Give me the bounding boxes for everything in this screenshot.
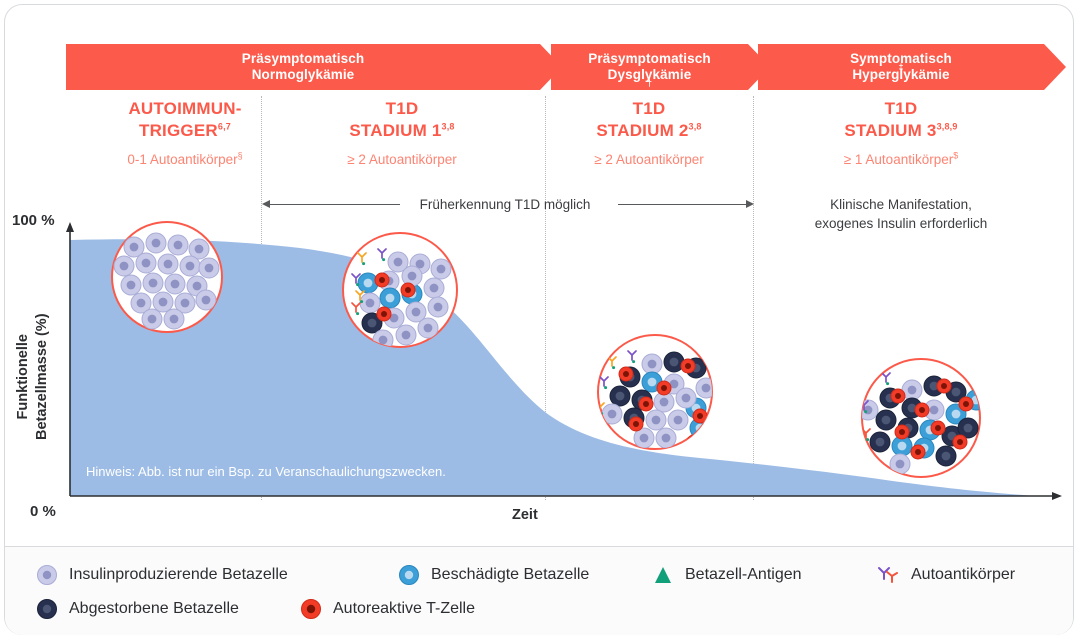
legend-item-beta-cell-antigen: Betazell-Antigen [652, 564, 802, 586]
stage-title-sup: 3,8 [689, 121, 702, 131]
stage-subtitle: 0-1 Autoantikörper§ [70, 151, 300, 169]
legend-item-damaged-beta-cell: Beschädigte Betazelle [398, 564, 589, 586]
legend-label: Autoreaktive T-Zelle [333, 600, 475, 618]
beta-cell-antigen-icon [652, 564, 674, 586]
stage-subtitle: ≥ 1 Autoantikörper$ [790, 151, 1012, 169]
stage-title-sup: 3,8,9 [937, 121, 958, 131]
stage-subtitle-sup: § [238, 151, 243, 161]
legend-item-autoreactive-t-cell: Autoreaktive T-Zelle [300, 598, 475, 620]
legend-label: Autoantikörper [911, 566, 1015, 584]
damaged-beta-cell-icon [398, 564, 420, 586]
legend-label: Beschädigte Betazelle [431, 566, 589, 584]
banner-symptomatic-hyperglycemia: Symptomatisch‡ Hyperglykämie [758, 44, 1066, 90]
stage-title: T1D STADIUM 13,8 [287, 98, 517, 142]
stage-title-sup: 3,8 [442, 121, 455, 131]
legend-label: Betazell-Antigen [685, 566, 802, 584]
clinical-line-1: Klinische Manifestation, [790, 195, 1012, 214]
stage-subtitle-sup: $ [953, 151, 958, 161]
stage-title-line-1: T1D [790, 98, 1012, 120]
stage-divider-1 [261, 96, 262, 500]
stage-column-autoimmun-trigger: AUTOIMMUN- TRIGGER6,7 0-1 Autoantikörper… [70, 98, 300, 169]
stage-column-t1d-stadium-2: T1D STADIUM 23,8 ≥ 2 Autoantikörper [538, 98, 760, 169]
legend-item-autoantibody: Autoantikörper [876, 564, 1015, 586]
early-detection-label: Früherkennung T1D möglich [405, 195, 605, 214]
banner-line-1: Symptomatisch‡ [850, 51, 952, 67]
chart-disclaimer-note: Hinweis: Abb. ist nur ein Bsp. zu Verans… [86, 464, 446, 479]
y-axis-tick-0: 0 % [30, 503, 56, 520]
stage-title-line-1: AUTOIMMUN- [70, 98, 300, 120]
x-axis-title: Zeit [512, 507, 538, 523]
legend-label: Insulinproduzierende Betazelle [69, 566, 288, 584]
stage-column-t1d-stadium-3: T1D STADIUM 33,8,9 ≥ 1 Autoantikörper$ [790, 98, 1012, 169]
clinical-line-2: exogenes Insulin erforderlich [790, 214, 1012, 233]
stage-title-line-2: STADIUM 13,8 [287, 120, 517, 142]
stage-divider-3 [753, 96, 754, 500]
autoreactive-t-cell-icon [300, 598, 322, 620]
banner-line-2: Dysglykämie† [588, 67, 710, 83]
stage-column-t1d-stadium-1: T1D STADIUM 13,8 ≥ 2 Autoantikörper [287, 98, 517, 169]
legend-panel [5, 546, 1073, 635]
clinical-manifestation-label: Klinische Manifestation, exogenes Insuli… [790, 195, 1012, 233]
early-detection-arrow-left [262, 200, 270, 208]
banner-presymptomatic-normoglycemia: Präsymptomatisch Normoglykämie [66, 44, 562, 90]
early-detection-arrow-right [746, 200, 754, 208]
legend-item-dead-beta-cell: Abgestorbene Betazelle [36, 598, 239, 620]
early-detection-line-left [270, 204, 400, 205]
stage-title-line-1: T1D [287, 98, 517, 120]
stage-title-line-2: STADIUM 33,8,9 [790, 120, 1012, 142]
banner-line-1: Präsymptomatisch [588, 51, 710, 67]
autoantibody-icon [876, 564, 900, 586]
y-axis-tick-100: 100 % [12, 212, 55, 229]
stage-subtitle: ≥ 2 Autoantikörper [287, 151, 517, 169]
figure-root: Präsymptomatisch Normoglykämie Präsympto… [0, 0, 1078, 639]
stage-title-sup: 6,7 [218, 121, 231, 131]
y-axis-title: FunktionelleBetazellmasse (%) [14, 313, 52, 440]
stage-divider-2 [545, 96, 546, 500]
banner-line-2: Normoglykämie [242, 67, 364, 83]
early-detection-line-right [618, 204, 746, 205]
legend-label: Abgestorbene Betazelle [69, 600, 239, 618]
stage-title: T1D STADIUM 33,8,9 [790, 98, 1012, 142]
stage-title: T1D STADIUM 23,8 [538, 98, 760, 142]
banner-line-2: Hyperglykämie [850, 67, 952, 83]
dead-beta-cell-icon [36, 598, 58, 620]
banner-line-1: Präsymptomatisch [242, 51, 364, 67]
banner-presymptomatic-dysglycemia: Präsymptomatisch Dysglykämie† [551, 44, 770, 90]
stage-title-line-1: T1D [538, 98, 760, 120]
healthy-beta-cell-icon [36, 564, 58, 586]
stage-subtitle: ≥ 2 Autoantikörper [538, 151, 760, 169]
stage-title: AUTOIMMUN- TRIGGER6,7 [70, 98, 300, 142]
stage-title-line-2: TRIGGER6,7 [70, 120, 300, 142]
stage-title-line-2: STADIUM 23,8 [538, 120, 760, 142]
legend-item-healthy-beta-cell: Insulinproduzierende Betazelle [36, 564, 288, 586]
